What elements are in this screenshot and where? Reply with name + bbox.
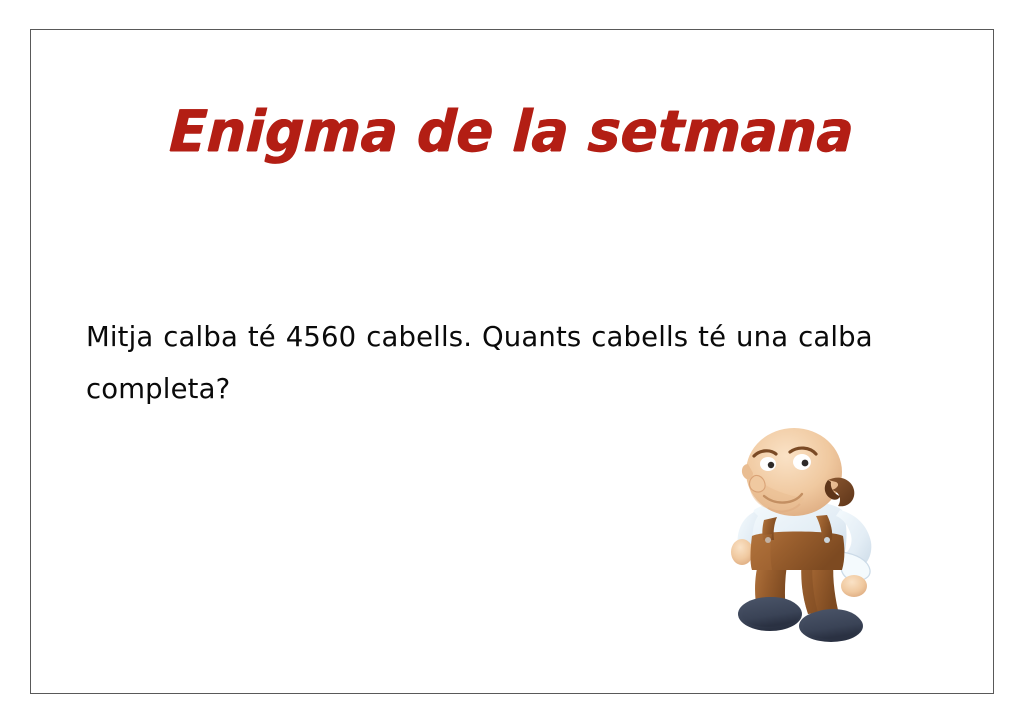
bald-cartoon-man-icon xyxy=(724,424,900,646)
figure-head xyxy=(742,428,854,516)
bald-cartoon-man-illustration xyxy=(724,424,900,646)
slide-canvas: Enigma de la setmana Mitja calba té 4560… xyxy=(0,0,1024,724)
figure-shoes xyxy=(738,597,863,642)
slide-title: Enigma de la setmana xyxy=(168,102,855,162)
riddle-question-text: Mitja calba té 4560 cabells. Quants cabe… xyxy=(86,311,956,415)
slide-title-block: Enigma de la setmana xyxy=(30,104,994,161)
slide-body-block: Mitja calba té 4560 cabells. Quants cabe… xyxy=(86,283,956,442)
